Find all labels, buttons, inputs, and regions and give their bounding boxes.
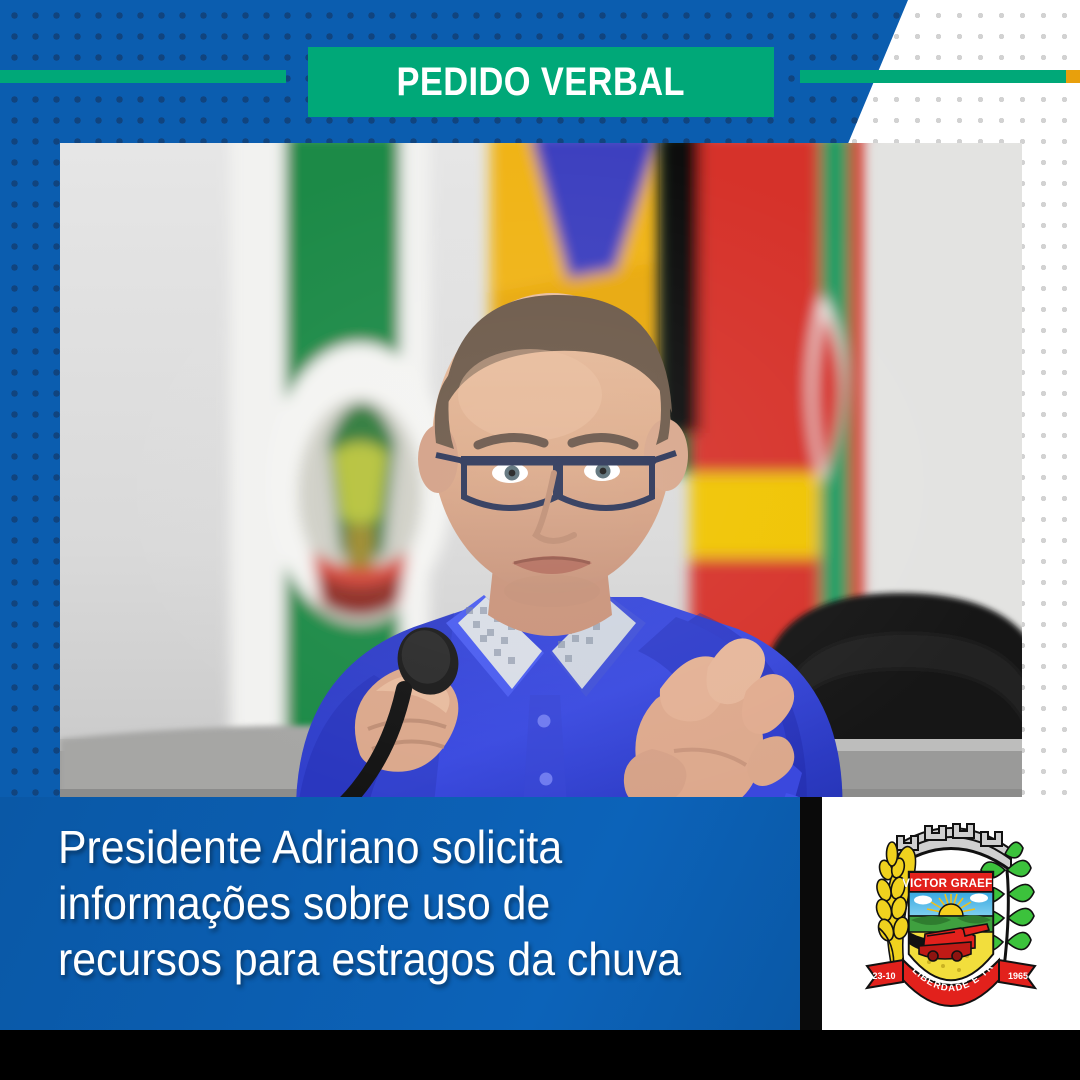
coat-of-arms-year: 1965 xyxy=(1008,971,1028,981)
coat-of-arms-municipality: VICTOR GRAEFF xyxy=(902,878,1000,890)
caption-headline: Presidente Adriano solicita informações … xyxy=(58,819,728,987)
caption-line-1: Presidente Adriano solicita xyxy=(58,819,728,875)
accent-rule-left xyxy=(0,70,286,83)
caption-line-3: recursos para estragos da chuva xyxy=(58,931,728,987)
accent-rule-right xyxy=(800,70,1066,83)
social-media-card: PEDIDO VERBAL xyxy=(0,0,1080,1080)
logo-panel: VICTOR GRAEFF xyxy=(822,797,1080,1030)
caption-line-2: informações sobre uso de xyxy=(58,875,728,931)
hero-photo-illustration: CÂMARA DE VEREADORES xyxy=(60,143,1022,823)
accent-cap-amber xyxy=(1066,70,1080,83)
caption-panel: Presidente Adriano solicita informações … xyxy=(0,797,800,1030)
bottom-bar xyxy=(0,1030,1080,1080)
coat-of-arms-victor-graeff: VICTOR GRAEFF xyxy=(853,814,1049,1014)
panel-divider xyxy=(800,797,822,1030)
header-badge: PEDIDO VERBAL xyxy=(308,47,774,117)
coat-of-arms-date: 23-10 xyxy=(872,971,895,981)
hero-photo: CÂMARA DE VEREADORES xyxy=(60,143,1022,823)
header-badge-label: PEDIDO VERBAL xyxy=(397,60,685,105)
